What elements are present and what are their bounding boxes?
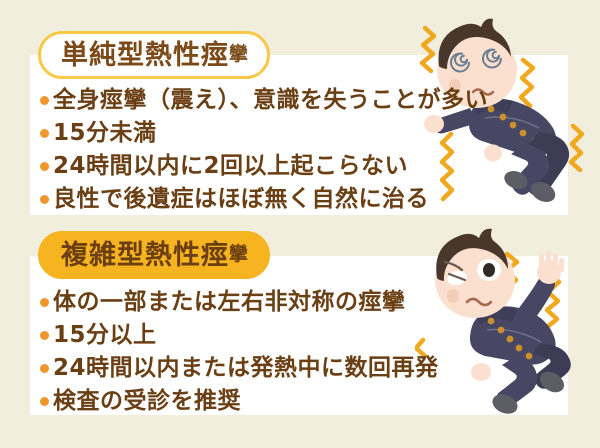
list-item: 24時間以内に2回以上起こらない (40, 152, 488, 182)
hand-open (537, 251, 564, 284)
list-item: 15分以上 (40, 321, 439, 351)
infographic-canvas: 単純型熱性痙攣 全身痙攣（震え）、意識を失うことが多い 15分未満 24時間以内… (0, 0, 600, 448)
list-item: 24時間以内または発熱中に数回再発 (40, 354, 439, 384)
list-item: 良性で後遺症はほぼ無く自然に治る (40, 185, 488, 215)
ear (447, 289, 459, 303)
section-title-pill-simple: 単純型熱性痙攣 (38, 31, 270, 79)
section-title-simple: 単純型熱性痙攣 (61, 42, 249, 69)
bullet-dot-icon (40, 298, 49, 307)
bullet-list-complex: 体の一部または左右非対称の痙攣 15分以上 24時間以内または発熱中に数回再発 … (40, 288, 439, 420)
bullet-list-simple: 全身痙攣（震え）、意識を失うことが多い 15分未満 24時間以内に2回以上起こら… (40, 86, 488, 218)
bullet-dot-icon (40, 162, 49, 171)
bullet-dot-icon (40, 397, 49, 406)
bullet-dot-icon (40, 364, 49, 373)
list-item: 全身痙攣（震え）、意識を失うことが多い (40, 86, 488, 116)
pupil (483, 263, 495, 277)
illustration-boy-asymmetric-seizure (415, 222, 600, 422)
list-item: 検査の受診を推奨 (40, 387, 439, 417)
bullet-dot-icon (40, 331, 49, 340)
list-item: 15分未満 (40, 119, 488, 149)
list-item: 体の一部または左右非対称の痙攣 (40, 288, 439, 318)
bullet-dot-icon (40, 129, 49, 138)
section-title-complex: 複雑型熱性痙攣 (61, 242, 249, 269)
bullet-dot-icon (40, 96, 49, 105)
bullet-dot-icon (40, 195, 49, 204)
hand-lower (471, 363, 491, 381)
section-title-pill-complex: 複雑型熱性痙攣 (38, 231, 270, 279)
